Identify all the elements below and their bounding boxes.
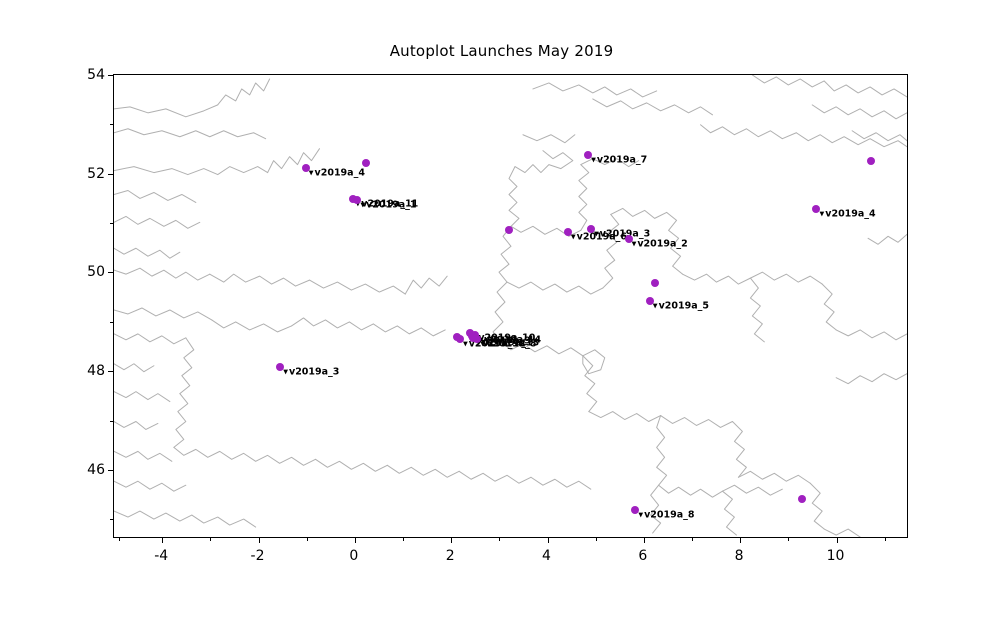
ytick-minor [110,124,114,125]
xtick-major [740,537,741,543]
scatter-point [362,159,370,167]
ytick-label: 46 [87,462,114,478]
xtick-major [837,537,838,543]
xtick-major [644,537,645,543]
point-label: ▾v2019a_3 [283,367,339,378]
plot-axes: 54 52 50 48 46 ▾v2019a_4▾v2019a_11▾v2019… [113,74,908,538]
ytick-minor [110,322,114,323]
xtick-major [355,537,356,543]
xtick-minor [403,537,404,541]
coastline-map [114,75,907,537]
ytick-minor [110,223,114,224]
point-label: ▾v2019a_5 [653,301,709,312]
xtick-label: 8 [735,548,744,564]
xtick-minor [210,537,211,541]
xtick-major [451,537,452,543]
ytick-label: 48 [87,363,114,379]
scatter-point [867,157,875,165]
point-label: ▾v2019a_4 [309,167,365,178]
xtick-minor [788,537,789,541]
xtick-label: 6 [638,548,647,564]
xtick-minor [499,537,500,541]
point-label: ▾v2019a_2 [632,238,688,249]
ytick-label: 54 [87,67,114,83]
xtick-label: -4 [154,548,168,564]
point-label: ▾v2019a_4 [819,209,875,220]
matplotlib-figure: Autoplot Launches May 2019 [0,0,1003,633]
xtick-minor [307,537,308,541]
xtick-minor [692,537,693,541]
xtick-minor [885,537,886,541]
xtick-label: 4 [542,548,551,564]
xtick-label: 10 [827,548,845,564]
ytick-minor [110,519,114,520]
ytick-minor [110,421,114,422]
point-label: ▾v2019a_7 [591,154,647,165]
xtick-major [259,537,260,543]
point-label: ▾v2019a_8 [480,338,536,349]
xtick-minor [596,537,597,541]
ytick-label: 50 [87,264,114,280]
ytick-label: 52 [87,166,114,182]
xtick-label: -2 [251,548,265,564]
basemap-container [114,75,907,537]
xtick-minor [119,537,120,541]
xtick-major [548,537,549,543]
xtick-label: 2 [446,548,455,564]
scatter-point [505,226,513,234]
point-label: ▾v2019a_1 [360,199,416,210]
point-label: ▾v2019a_8 [638,510,694,521]
scatter-point [798,495,806,503]
xtick-major [162,537,163,543]
xtick-label: 0 [349,548,358,564]
scatter-point [651,279,659,287]
chart-title: Autoplot Launches May 2019 [0,42,1003,60]
